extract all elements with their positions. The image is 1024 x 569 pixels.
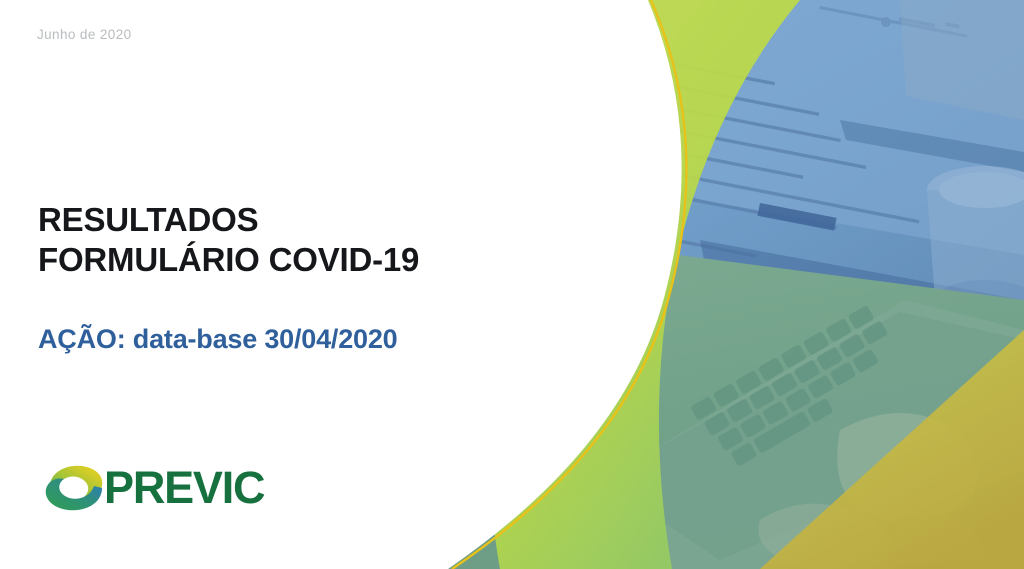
- previc-logo: PREVIC: [40, 458, 264, 518]
- presentation-slide: Junho de 2020 RESULTADOS FORMULÁRIO COVI…: [0, 0, 1024, 569]
- previc-wordmark: PREVIC: [104, 465, 264, 511]
- slide-date-label: Junho de 2020: [37, 27, 132, 42]
- title-line-2: FORMULÁRIO COVID-19: [38, 240, 598, 280]
- slide-subtitle: AÇÃO: data-base 30/04/2020: [38, 322, 397, 356]
- page-title: RESULTADOS FORMULÁRIO COVID-19: [38, 200, 598, 280]
- title-line-1: RESULTADOS: [38, 200, 598, 240]
- previc-ribbon-icon: [40, 458, 106, 518]
